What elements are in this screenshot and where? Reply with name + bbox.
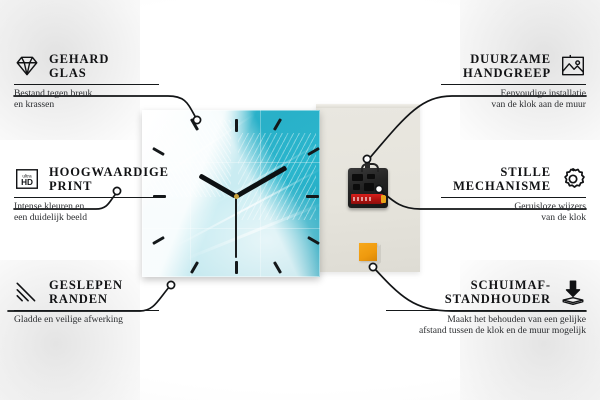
feature-titles: GESLEPEN RANDEN: [49, 278, 123, 306]
feature-duurzame-handgreep: DUURZAME HANDGREEP Eenvoudige installati…: [441, 52, 586, 111]
feature-title-line2: STANDHOUDER: [445, 292, 551, 306]
svg-text:HD: HD: [21, 178, 33, 187]
feature-description: Gladde en veilige afwerking: [14, 314, 159, 325]
feature-header: ultra HD HOOGWAARDIGE PRINT: [14, 165, 159, 193]
leader-dot-schuimafstandhouder: [369, 263, 376, 270]
feature-rule: [14, 310, 159, 311]
feature-titles: DUURZAME HANDGREEP: [463, 52, 551, 80]
feature-hoogwaardige-print: ultra HD HOOGWAARDIGE PRINT Intense kleu…: [14, 165, 159, 224]
leader-dot-geslepen-randen: [167, 281, 174, 288]
feature-titles: SCHUIMAF- STANDHOUDER: [445, 278, 551, 306]
feature-title-line1: GESLEPEN: [49, 278, 123, 292]
feature-rule: [386, 310, 586, 311]
feature-rule: [441, 197, 586, 198]
ultra-hd-icon: ultra HD: [14, 166, 40, 192]
feature-header: STILLE MECHANISME: [441, 165, 586, 193]
diamond-icon: [14, 53, 40, 79]
feature-title-line2: PRINT: [49, 179, 169, 193]
feature-rule: [441, 84, 586, 85]
beveled-edges-icon: [14, 279, 40, 305]
feature-titles: GEHARD GLAS: [49, 52, 109, 80]
feature-header: GEHARD GLAS: [14, 52, 159, 80]
feature-header: DUURZAME HANDGREEP: [441, 52, 586, 80]
feature-title-line1: SCHUIMAF-: [445, 278, 551, 292]
feature-titles: HOOGWAARDIGE PRINT: [49, 165, 169, 193]
feature-rule: [14, 197, 159, 198]
feature-header: SCHUIMAF- STANDHOUDER: [386, 278, 586, 306]
infographic-canvas: GEHARD GLAS Bestand tegen breuk en krass…: [0, 0, 600, 400]
feature-description: Bestand tegen breuk en krassen: [14, 88, 159, 111]
feature-title-line2: MECHANISME: [453, 179, 551, 193]
feature-stille-mechanisme: STILLE MECHANISME Geruisloze wijzers van…: [441, 165, 586, 224]
framed-picture-icon: [560, 53, 586, 79]
gear-icon: [560, 166, 586, 192]
feature-titles: STILLE MECHANISME: [453, 165, 551, 193]
feature-title-line1: HOOGWAARDIGE: [49, 165, 169, 179]
feature-geslepen-randen: GESLEPEN RANDEN Gladde en veilige afwerk…: [14, 278, 159, 325]
feature-title-line1: GEHARD: [49, 52, 109, 66]
feature-description: Eenvoudige installatie van de klok aan d…: [441, 88, 586, 111]
feature-title-line1: STILLE: [453, 165, 551, 179]
feature-description: Intense kleuren en een duidelijk beeld: [14, 201, 159, 224]
leader-dot-gehard-glas: [193, 116, 200, 123]
leader-dot-stille-mechanisme: [375, 185, 382, 192]
feature-description: Maakt het behouden van een gelijke afsta…: [386, 314, 586, 337]
feature-gehard-glas: GEHARD GLAS Bestand tegen breuk en krass…: [14, 52, 159, 111]
feature-title-line2: RANDEN: [49, 292, 123, 306]
leader-dot-duurzame-handgreep: [363, 155, 370, 162]
feature-title-line2: GLAS: [49, 66, 109, 80]
press-down-spacer-icon: [560, 279, 586, 305]
feature-description: Geruisloze wijzers van de klok: [441, 201, 586, 224]
feature-schuimafstandhouder: SCHUIMAF- STANDHOUDER Maakt het behouden…: [386, 278, 586, 337]
feature-title-line1: DUURZAME: [463, 52, 551, 66]
feature-title-line2: HANDGREEP: [463, 66, 551, 80]
feature-rule: [14, 84, 159, 85]
feature-header: GESLEPEN RANDEN: [14, 278, 159, 306]
